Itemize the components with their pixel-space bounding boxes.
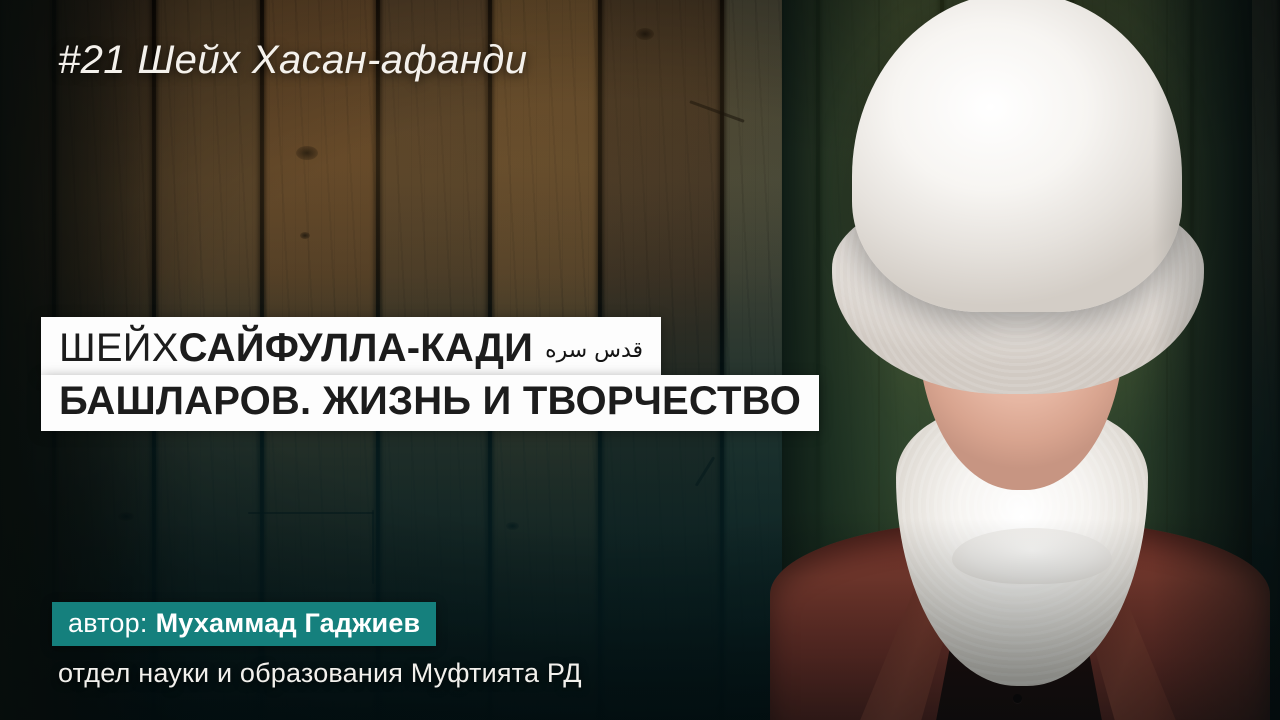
robe-button	[1013, 694, 1022, 703]
department-line: отдел науки и образования Муфтията РД	[58, 658, 582, 689]
moustache	[952, 528, 1112, 584]
episode-title: #21 Шейх Хасан-афанди	[58, 38, 527, 83]
papakha-hat	[852, 0, 1182, 312]
headline-word-sheikh: ШЕЙХ	[59, 328, 179, 368]
wood-knot	[300, 232, 310, 239]
wood-knot	[636, 28, 654, 40]
author-name: Мухаммад Гаджиев	[156, 610, 421, 637]
headline-block: ШЕЙХ САЙФУЛЛА-КАДИ قدس سره БАШЛАРОВ. ЖИЗ…	[41, 317, 819, 431]
author-label: автор:	[68, 610, 148, 637]
headline-line-1: ШЕЙХ САЙФУЛЛА-КАДИ قدس سره	[41, 317, 661, 376]
title-card-slide: #21 Шейх Хасан-афанди ШЕЙХ САЙФУЛЛА-КАДИ…	[0, 0, 1280, 720]
wood-knot	[118, 512, 134, 521]
wood-knot	[296, 146, 318, 160]
wood-scratch	[248, 512, 374, 514]
headline-name-saifulla-kadi: САЙФУЛЛА-КАДИ	[179, 328, 533, 368]
arabic-honorific-calligraphy: قدس سره	[545, 340, 643, 362]
wood-knot	[506, 522, 519, 530]
headline-line-2: БАШЛАРОВ. ЖИЗНЬ И ТВОРЧЕСТВО	[41, 375, 819, 431]
author-badge: автор: Мухаммад Гаджиев	[52, 602, 436, 646]
wood-scratch	[372, 510, 374, 584]
